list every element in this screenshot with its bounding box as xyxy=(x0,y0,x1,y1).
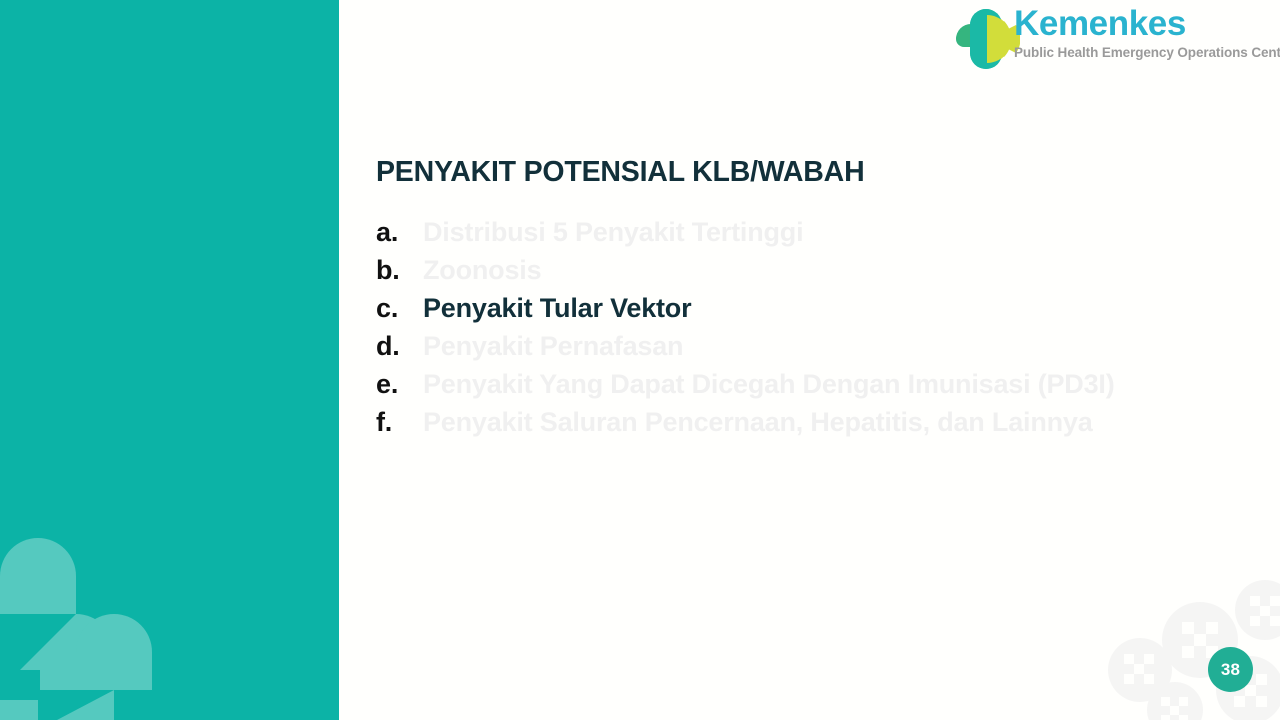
list-item-marker: f. xyxy=(376,403,423,441)
list-item-marker: e. xyxy=(376,365,423,403)
list-item-marker: a. xyxy=(376,213,423,251)
list-item-marker: b. xyxy=(376,251,423,289)
slide-content: PENYAKIT POTENSIAL KLB/WABAH a. Distribu… xyxy=(376,152,1236,441)
list-item-active[interactable]: c. Penyakit Tular Vektor xyxy=(376,289,1236,327)
slide-canvas: Kemenkes Public Health Emergency Operati… xyxy=(0,0,1280,720)
list-item-label: Penyakit Pernafasan xyxy=(423,327,1236,365)
list-item[interactable]: d. Penyakit Pernafasan xyxy=(376,327,1236,365)
outline-list: a. Distribusi 5 Penyakit Tertinggi b. Zo… xyxy=(376,213,1236,441)
list-item-label: Distribusi 5 Penyakit Tertinggi xyxy=(423,213,1236,251)
list-item-label: Penyakit Yang Dapat Dicegah Dengan Imuni… xyxy=(423,365,1223,403)
list-item[interactable]: f. Penyakit Saluran Pencernaan, Hepatiti… xyxy=(376,403,1236,441)
left-accent-panel xyxy=(0,0,339,720)
page-title: PENYAKIT POTENSIAL KLB/WABAH xyxy=(376,152,1236,192)
kemenkes-clover-icon xyxy=(952,6,1020,72)
list-item[interactable]: a. Distribusi 5 Penyakit Tertinggi xyxy=(376,213,1236,251)
list-item[interactable]: e. Penyakit Yang Dapat Dicegah Dengan Im… xyxy=(376,365,1236,403)
decorative-petal-motif xyxy=(0,530,196,720)
kemenkes-logo: Kemenkes Public Health Emergency Operati… xyxy=(952,4,1274,74)
list-item-label: Zoonosis xyxy=(423,251,1236,289)
list-item-marker: d. xyxy=(376,327,423,365)
logo-tagline: Public Health Emergency Operations Cente… xyxy=(1014,44,1276,61)
logo-text-block: Kemenkes Public Health Emergency Operati… xyxy=(1014,4,1276,61)
list-item-marker: c. xyxy=(376,289,423,327)
corner-ornament-pattern xyxy=(1080,550,1280,720)
page-number-badge: 38 xyxy=(1208,647,1253,692)
logo-wordmark: Kemenkes xyxy=(1014,4,1276,44)
list-item-label: Penyakit Saluran Pencernaan, Hepatitis, … xyxy=(423,403,1223,441)
list-item[interactable]: b. Zoonosis xyxy=(376,251,1236,289)
list-item-label: Penyakit Tular Vektor xyxy=(423,289,1236,327)
